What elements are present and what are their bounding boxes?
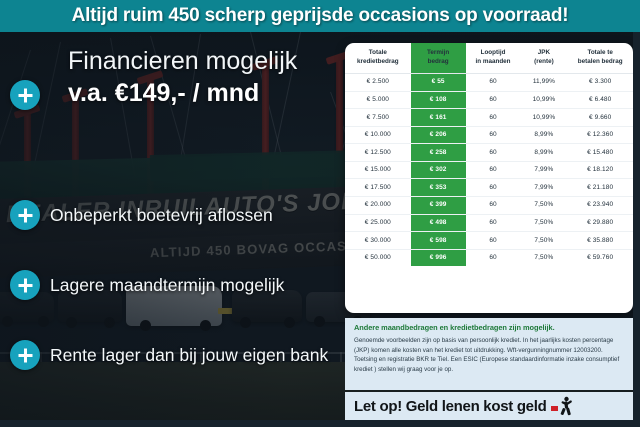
cell-krediet: € 20.000 — [345, 197, 411, 215]
cell-totaal: € 59.760 — [567, 249, 633, 266]
benefit-item-1: Lagere maandtermijn mogelijk — [10, 270, 284, 300]
rates-table: Totale kredietbedrag Termijn bedrag Loop… — [345, 43, 633, 266]
benefit-label: Lagere maandtermijn mogelijk — [50, 275, 284, 296]
cell-termijn: € 399 — [411, 197, 466, 215]
benefit-label: Rente lager dan bij jouw eigen bank — [50, 345, 328, 366]
benefit-item-0: Onbeperkt boetevrij aflossen — [10, 200, 273, 230]
cell-jkp: 7,50% — [520, 214, 567, 232]
benefit-item-2: Rente lager dan bij jouw eigen bank — [10, 340, 328, 370]
cell-krediet: € 15.000 — [345, 161, 411, 179]
cell-jkp: 7,50% — [520, 249, 567, 266]
table-row: € 25.000€ 498607,50%€ 29.880 — [345, 214, 633, 232]
cell-totaal: € 23.940 — [567, 197, 633, 215]
cell-looptijd: 60 — [466, 161, 521, 179]
cell-looptijd: 60 — [466, 214, 521, 232]
walking-man-icon — [551, 396, 575, 416]
col-header-jkp-line1: JPK — [522, 49, 565, 58]
cell-krediet: € 7.500 — [345, 109, 411, 127]
col-header-krediet: Totale kredietbedrag — [345, 43, 411, 74]
col-header-totaal-line1: Totale te — [569, 49, 631, 58]
cell-looptijd: 60 — [466, 232, 521, 250]
cell-totaal: € 35.880 — [567, 232, 633, 250]
cell-krediet: € 17.500 — [345, 179, 411, 197]
warning-text: Let op! Geld lenen kost geld — [354, 398, 546, 415]
hero-headline-line1: Financieren mogelijk — [68, 48, 340, 74]
disclaimer-body: Genoemde voorbeelden zijn op basis van p… — [354, 336, 624, 374]
cell-termijn: € 353 — [411, 179, 466, 197]
cell-krediet: € 25.000 — [345, 214, 411, 232]
cell-jkp: 7,50% — [520, 232, 567, 250]
cell-termijn: € 996 — [411, 249, 466, 266]
cell-jkp: 8,99% — [520, 144, 567, 162]
col-header-termijn: Termijn bedrag — [411, 43, 466, 74]
col-header-krediet-line1: Totale — [347, 49, 409, 58]
cell-krediet: € 2.500 — [345, 74, 411, 92]
benefits-column: Financieren mogelijk v.a. €149,- / mnd O… — [0, 32, 345, 427]
cell-totaal: € 21.180 — [567, 179, 633, 197]
cell-totaal: € 18.120 — [567, 161, 633, 179]
cell-krediet: € 10.000 — [345, 126, 411, 144]
right-edge — [633, 32, 640, 427]
table-row: € 50.000€ 996607,50%€ 59.760 — [345, 249, 633, 266]
table-row: € 2.500€ 556011,99%€ 3.300 — [345, 74, 633, 92]
cell-jkp: 7,99% — [520, 179, 567, 197]
table-row: € 5.000€ 1086010,99%€ 6.480 — [345, 91, 633, 109]
col-header-termijn-line2: bedrag — [413, 58, 464, 67]
cell-totaal: € 29.880 — [567, 214, 633, 232]
col-header-jkp-line2: (rente) — [522, 58, 565, 67]
rates-table-head: Totale kredietbedrag Termijn bedrag Loop… — [345, 43, 633, 74]
cell-totaal: € 15.480 — [567, 144, 633, 162]
disclaimer-block: Andere maandbedragen en kredietbedragen … — [345, 318, 633, 390]
cell-jkp: 7,99% — [520, 161, 567, 179]
table-row: € 10.000€ 206608,99%€ 12.360 — [345, 126, 633, 144]
cell-looptijd: 60 — [466, 144, 521, 162]
col-header-totaal: Totale te betalen bedrag — [567, 43, 633, 74]
cell-looptijd: 60 — [466, 109, 521, 127]
cell-jkp: 7,50% — [520, 197, 567, 215]
cell-krediet: € 12.500 — [345, 144, 411, 162]
cell-krediet: € 30.000 — [345, 232, 411, 250]
cell-krediet: € 50.000 — [345, 249, 411, 266]
table-header-row: Totale kredietbedrag Termijn bedrag Loop… — [345, 43, 633, 74]
disclaimer-title: Andere maandbedragen en kredietbedragen … — [354, 323, 624, 332]
col-header-jkp: JPK (rente) — [520, 43, 567, 74]
cell-termijn: € 598 — [411, 232, 466, 250]
cell-totaal: € 12.360 — [567, 126, 633, 144]
cell-termijn: € 498 — [411, 214, 466, 232]
plus-icon — [10, 80, 40, 110]
plus-icon — [10, 340, 40, 370]
cell-totaal: € 9.660 — [567, 109, 633, 127]
col-header-totaal-line2: betalen bedrag — [569, 58, 631, 67]
col-header-looptijd-line1: Looptijd — [468, 49, 519, 58]
cell-totaal: € 3.300 — [567, 74, 633, 92]
warning-bar: Let op! Geld lenen kost geld — [345, 392, 633, 420]
cell-looptijd: 60 — [466, 179, 521, 197]
col-header-looptijd-line2: in maanden — [468, 58, 519, 67]
advertisement-banner: Altijd ruim 450 scherp geprijsde occasio… — [0, 0, 640, 427]
col-header-krediet-line2: kredietbedrag — [347, 58, 409, 67]
cell-looptijd: 60 — [466, 91, 521, 109]
benefit-label: Onbeperkt boetevrij aflossen — [50, 205, 273, 226]
cell-looptijd: 60 — [466, 249, 521, 266]
cell-termijn: € 206 — [411, 126, 466, 144]
table-row: € 7.500€ 1616010,99%€ 9.660 — [345, 109, 633, 127]
cell-jkp: 10,99% — [520, 91, 567, 109]
top-banner-text: Altijd ruim 450 scherp geprijsde occasio… — [72, 5, 569, 27]
col-header-looptijd: Looptijd in maanden — [466, 43, 521, 74]
table-row: € 20.000€ 399607,50%€ 23.940 — [345, 197, 633, 215]
cell-jkp: 8,99% — [520, 126, 567, 144]
table-row: € 12.500€ 258608,99%€ 15.480 — [345, 144, 633, 162]
cell-totaal: € 6.480 — [567, 91, 633, 109]
col-header-termijn-line1: Termijn — [413, 49, 464, 58]
rates-table-body: € 2.500€ 556011,99%€ 3.300€ 5.000€ 10860… — [345, 74, 633, 267]
cell-termijn: € 258 — [411, 144, 466, 162]
table-row: € 17.500€ 353607,99%€ 21.180 — [345, 179, 633, 197]
plus-icon — [10, 200, 40, 230]
cell-termijn: € 55 — [411, 74, 466, 92]
table-row: € 30.000€ 598607,50%€ 35.880 — [345, 232, 633, 250]
cell-jkp: 10,99% — [520, 109, 567, 127]
cell-termijn: € 161 — [411, 109, 466, 127]
table-row: € 15.000€ 302607,99%€ 18.120 — [345, 161, 633, 179]
cell-krediet: € 5.000 — [345, 91, 411, 109]
cell-termijn: € 108 — [411, 91, 466, 109]
plus-icon — [10, 270, 40, 300]
top-banner: Altijd ruim 450 scherp geprijsde occasio… — [0, 0, 640, 32]
cell-termijn: € 302 — [411, 161, 466, 179]
bottom-edge — [0, 420, 640, 427]
rates-card: Totale kredietbedrag Termijn bedrag Loop… — [345, 43, 633, 313]
hero-plus-badge — [10, 80, 40, 110]
cell-looptijd: 60 — [466, 126, 521, 144]
cell-looptijd: 60 — [466, 197, 521, 215]
cell-looptijd: 60 — [466, 74, 521, 92]
cell-jkp: 11,99% — [520, 74, 567, 92]
hero-headline-line2: v.a. €149,- / mnd — [68, 80, 340, 106]
